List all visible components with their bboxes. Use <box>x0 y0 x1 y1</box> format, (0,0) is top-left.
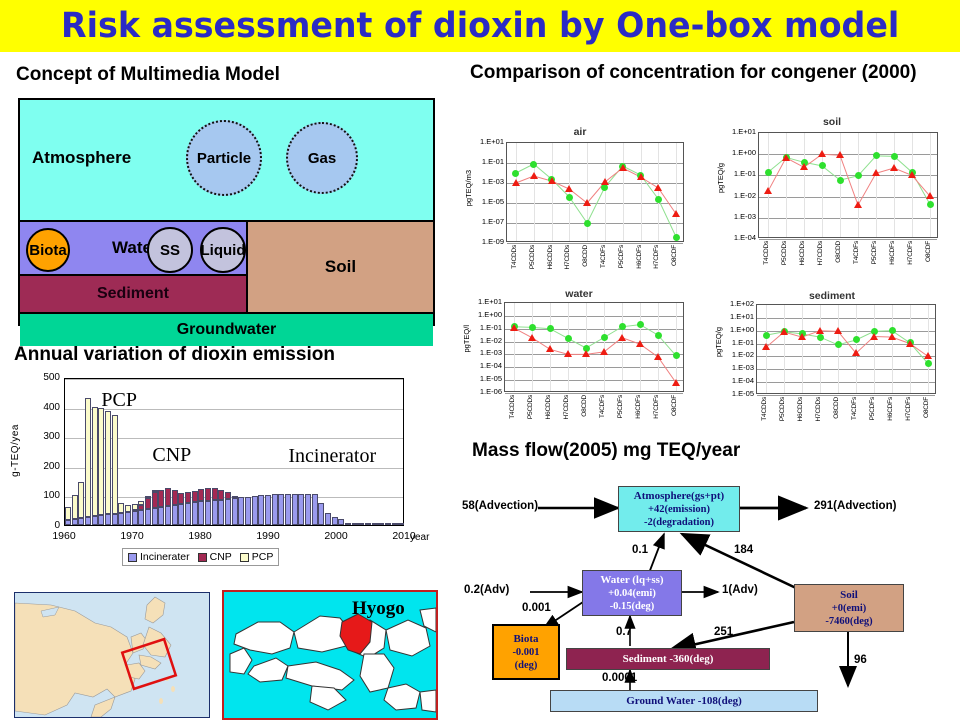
emission-bar-segment <box>245 497 251 525</box>
emission-bar <box>245 377 251 525</box>
emission-bar-segment <box>272 494 278 525</box>
air-x-tick: O8CDF <box>671 245 678 266</box>
water-x-tick: O8CDF <box>671 395 678 416</box>
emission-bar-segment <box>232 498 238 525</box>
water-data-point-circle <box>547 325 554 332</box>
water-data-point-triangle <box>600 348 608 355</box>
sediment-x-tick: T4CDDs <box>761 397 768 421</box>
sediment-data-point-triangle <box>924 352 932 359</box>
air-data-point-circle <box>584 220 591 227</box>
sediment-data-point-triangle <box>798 333 806 340</box>
soil-data-point-circle <box>819 162 826 169</box>
emission-bar <box>78 377 84 525</box>
heading-congener-comparison: Comparison of concentration for congener… <box>470 62 930 84</box>
soil-y-tick: 1.E-01 <box>722 169 756 178</box>
emission-legend-item: Incinerater <box>128 551 190 563</box>
soil-data-point-circle <box>891 153 898 160</box>
emission-bar-segment <box>178 504 184 525</box>
biota-circle: Biota <box>26 228 70 272</box>
emission-bar-segment <box>238 497 244 525</box>
heading-annual-emission: Annual variation of dioxin emission <box>14 344 335 366</box>
emission-bar-segment <box>198 489 204 501</box>
chart-water: waterpgTEQ/l1.E+011.E+001.E-011.E-021.E-… <box>458 288 700 428</box>
emission-bar-segment <box>378 523 384 525</box>
emission-legend-item: PCP <box>240 551 274 563</box>
gas-circle: Gas <box>286 122 358 194</box>
emission-legend: IncineraterCNPPCP <box>122 548 279 566</box>
water-x-tick: O8CDD <box>581 395 588 417</box>
emission-bar <box>252 377 258 525</box>
emission-bar-segment <box>352 523 358 525</box>
chart-air: airpgTEQ/m31.E+011.E-011.E-031.E-051.E-0… <box>460 126 700 286</box>
air-data-point-triangle <box>619 164 627 171</box>
air-y-tick: 1.E-05 <box>470 197 504 206</box>
emission-bar <box>205 377 211 525</box>
water-plot-area <box>504 302 684 392</box>
water-y-tick: 1.E-01 <box>468 323 502 332</box>
massflow-box-water: Water (lq+ss) +0.04(emi) -0.15(deg) <box>582 570 682 616</box>
compartment-groundwater: Groundwater <box>20 314 433 346</box>
soil-x-tick: O8CDD <box>835 241 842 263</box>
emission-bar-segment <box>165 488 171 506</box>
massflow-soil-line3: -7460(deg) <box>825 615 872 628</box>
emission-bar-segment <box>98 408 104 515</box>
massflow-label-water-to-air: 0.1 <box>632 544 648 556</box>
emission-bar-segment <box>118 513 124 525</box>
air-x-tick: P5CDFs <box>618 245 625 268</box>
massflow-label-water-out: 1(Adv) <box>722 584 758 596</box>
compartment-atmosphere: Atmosphere Particle Gas <box>20 100 433 222</box>
emission-bar-segment <box>185 503 191 525</box>
emission-annotation: CNP <box>152 444 191 467</box>
sediment-data-point-triangle <box>852 349 860 356</box>
air-data-point-triangle <box>565 185 573 192</box>
massflow-atmosphere-line1: Atmosphere(gs+pt) <box>634 490 724 503</box>
emission-bar-segment <box>318 503 324 525</box>
emission-bar-segment <box>112 415 118 514</box>
emission-bar-segment <box>198 501 204 525</box>
sediment-x-tick: P5CDDs <box>779 397 786 421</box>
air-y-tick: 1.E-01 <box>470 157 504 166</box>
massflow-label-water-to-biota: 0.001 <box>522 602 551 614</box>
emission-bar-segment <box>98 515 104 525</box>
emission-bar-segment <box>265 495 271 525</box>
map-japan-hyogo: Hyogo <box>222 590 438 720</box>
soil-x-tick: H6CDFs <box>889 241 896 265</box>
emission-bar-segment <box>105 514 111 525</box>
massflow-water-line1: Water (lq+ss) <box>600 574 663 587</box>
emission-bar-segment <box>358 523 364 525</box>
sediment-x-tick: H6CDFs <box>887 397 894 421</box>
water-data-point-circle <box>673 352 680 359</box>
air-data-point-circle <box>512 170 519 177</box>
air-data-point-circle <box>655 196 662 203</box>
air-data-point-triangle <box>672 210 680 217</box>
emission-bar-segment <box>145 498 151 509</box>
air-x-tick: O8CDD <box>582 245 589 267</box>
air-data-point-triangle <box>601 178 609 185</box>
emission-bar <box>225 377 231 525</box>
massflow-box-sediment: Sediment -360(deg) <box>566 648 770 670</box>
water-x-tick: H6CDDs <box>545 395 552 419</box>
air-data-point-triangle <box>530 172 538 179</box>
air-x-tick: H6CDFs <box>636 245 643 269</box>
massflow-atmosphere-line2: +42(emission) <box>648 503 710 516</box>
massflow-water-line3: -0.15(deg) <box>610 600 655 613</box>
emission-bar-segment <box>372 523 378 525</box>
emission-bar-segment <box>365 523 371 525</box>
emission-x-tick: 2010 <box>388 530 420 542</box>
sediment-y-tick: 1.E-02 <box>720 350 754 359</box>
massflow-box-groundwater: Ground Water -108(deg) <box>550 690 818 712</box>
legend-label: PCP <box>252 551 274 563</box>
sediment-y-tick: 1.E+02 <box>720 299 754 308</box>
air-x-tick: H7CDFs <box>653 245 660 269</box>
emission-bar-segment <box>125 512 131 525</box>
emission-annotation: PCP <box>101 389 137 412</box>
emission-bar-segment <box>298 494 304 525</box>
emission-bar-segment <box>112 514 118 525</box>
water-x-tick: P5CDFs <box>617 395 624 418</box>
emission-legend-item: CNP <box>198 551 232 563</box>
sediment-data-point-triangle <box>780 328 788 335</box>
emission-bar <box>72 377 78 525</box>
soil-data-point-triangle <box>926 192 934 199</box>
massflow-atmosphere-line3: -2(degradation) <box>644 516 714 529</box>
sediment-x-tick: P5CDFs <box>869 397 876 420</box>
emission-bar-segment <box>385 523 391 525</box>
emission-bar-segment <box>158 507 164 525</box>
emission-bar-segment <box>125 505 131 512</box>
soil-data-point-triangle <box>800 163 808 170</box>
emission-bar-segment <box>138 510 144 525</box>
water-y-tick: 1.E-04 <box>468 361 502 370</box>
air-x-tick: P5CDDs <box>529 245 536 269</box>
emission-bar-segment <box>278 494 284 525</box>
air-y-tick: 1.E-09 <box>470 237 504 246</box>
emission-bar-segment <box>325 513 331 525</box>
massflow-label-air-out: 291(Advection) <box>814 500 896 512</box>
emission-bar-segment <box>78 482 84 518</box>
emission-bar-segment <box>118 503 124 512</box>
emission-bar-segment <box>252 496 258 525</box>
emission-bar <box>385 377 391 525</box>
emission-bar <box>378 377 384 525</box>
water-y-tick: 1.E-02 <box>468 336 502 345</box>
emission-bar-segment <box>212 488 218 500</box>
soil-data-point-circle <box>837 177 844 184</box>
water-data-point-triangle <box>654 353 662 360</box>
heading-multimedia-model: Concept of Multimedia Model <box>16 64 280 86</box>
massflow-box-soil: Soil +0(emi) -7460(deg) <box>794 584 904 632</box>
soil-x-tick: O8CDF <box>925 241 932 262</box>
soil-data-point-triangle <box>854 201 862 208</box>
air-y-tick: 1.E-03 <box>470 177 504 186</box>
emission-x-tick: 1970 <box>116 530 148 542</box>
soil-y-tick: 1.E-03 <box>722 212 756 221</box>
soil-x-tick: T4CDFs <box>853 241 860 264</box>
air-data-point-triangle <box>512 179 520 186</box>
map-east-asia <box>14 592 210 718</box>
emission-bar-segment <box>205 488 211 501</box>
emission-x-tick: 1990 <box>252 530 284 542</box>
emission-bar-segment <box>205 501 211 525</box>
air-data-point-circle <box>673 234 680 241</box>
emission-bar-segment <box>285 494 291 525</box>
emission-bar <box>232 377 238 525</box>
massflow-biota-line3: (deg) <box>515 659 538 672</box>
air-series-lines <box>507 143 685 243</box>
sediment-data-point-triangle <box>762 343 770 350</box>
massflow-biota-line2: -0.001 <box>512 646 539 659</box>
emission-bar-segment <box>338 519 344 526</box>
emission-bar-segment <box>172 490 178 505</box>
water-data-point-circle <box>565 335 572 342</box>
emission-bar-segment <box>305 494 311 525</box>
massflow-groundwater-line1: Ground Water -108(deg) <box>626 695 742 708</box>
emission-bar-segment <box>218 500 224 525</box>
soil-data-point-circle <box>873 152 880 159</box>
emission-bar <box>138 377 144 525</box>
air-x-tick: T4CDFs <box>600 245 607 268</box>
ss-circle: SS <box>147 227 193 273</box>
emission-bar-segment <box>152 508 158 525</box>
soil-x-tick: T4CDDs <box>763 241 770 265</box>
emission-y-tick: 100 <box>16 490 60 501</box>
emission-y-tick: 500 <box>16 372 60 383</box>
emission-x-tick: 2000 <box>320 530 352 542</box>
emission-bar <box>272 377 278 525</box>
compartment-sediment: Sediment <box>20 276 248 314</box>
poster-title-banner: Risk assessment of dioxin by One-box mod… <box>0 0 960 52</box>
air-data-point-circle <box>566 194 573 201</box>
water-y-tick: 1.E-05 <box>468 374 502 383</box>
massflow-label-soil-to-groundwater: 96 <box>854 654 867 666</box>
emission-bar-segment <box>85 398 91 516</box>
emission-bar-segment <box>292 494 298 525</box>
water-data-point-circle <box>655 332 662 339</box>
emission-bar-segment <box>392 523 398 525</box>
heading-mass-flow: Mass flow(2005) mg TEQ/year <box>472 440 740 462</box>
water-x-tick: P5CDDs <box>527 395 534 419</box>
air-data-point-triangle <box>548 177 556 184</box>
emission-bar-segment <box>332 517 338 525</box>
sediment-y-tick: 1.E+00 <box>720 325 754 334</box>
sediment-plot-area <box>756 304 936 394</box>
legend-label: CNP <box>210 551 232 563</box>
air-y-tick: 1.E-07 <box>470 217 504 226</box>
emission-bar <box>238 377 244 525</box>
map-east-asia-svg <box>15 593 210 718</box>
air-x-tick: H7CDDs <box>564 245 571 269</box>
emission-bar-segment <box>158 490 164 507</box>
massflow-box-biota: Biota -0.001 (deg) <box>492 624 560 680</box>
massflow-box-atmosphere: Atmosphere(gs+pt) +42(emission) -2(degra… <box>618 486 740 532</box>
massflow-soil-line2: +0(emi) <box>832 602 867 615</box>
water-x-tick: H6CDFs <box>635 395 642 419</box>
emission-bar-segment <box>312 494 318 525</box>
emission-bar-segment <box>65 507 71 519</box>
sediment-data-point-circle <box>925 360 932 367</box>
emission-bar-segment <box>72 519 78 526</box>
water-data-point-triangle <box>510 324 518 331</box>
chart-soil: soilpgTEQ/g1.E+011.E+001.E-011.E-021.E-0… <box>712 116 952 284</box>
legend-swatch <box>128 553 137 562</box>
emission-annotation: Incinerator <box>288 445 376 468</box>
emission-bar-segment <box>172 505 178 525</box>
sediment-y-tick: 1.E-03 <box>720 363 754 372</box>
water-y-tick: 1.E+00 <box>468 310 502 319</box>
air-y-tick: 1.E+01 <box>470 137 504 146</box>
emission-bar <box>65 377 71 525</box>
soil-data-point-triangle <box>908 171 916 178</box>
sediment-x-tick: T4CDFs <box>851 397 858 420</box>
air-data-point-triangle <box>654 184 662 191</box>
water-x-tick: H7CDDs <box>563 395 570 419</box>
sediment-y-tick: 1.E+01 <box>720 312 754 321</box>
air-x-tick: T4CDDs <box>511 245 518 269</box>
emission-bar-segment <box>85 517 91 525</box>
sediment-y-tick: 1.E-04 <box>720 376 754 385</box>
emission-bar <box>212 377 218 525</box>
water-data-point-circle <box>601 334 608 341</box>
emission-y-tick: 400 <box>16 402 60 413</box>
page-title: Risk assessment of dioxin by One-box mod… <box>61 6 899 46</box>
emission-bar <box>218 377 224 525</box>
soil-data-point-triangle <box>836 151 844 158</box>
soil-data-point-triangle <box>782 154 790 161</box>
massflow-soil-line1: Soil <box>840 589 858 602</box>
soil-data-point-circle <box>927 201 934 208</box>
emission-bar-segment <box>345 523 351 525</box>
soil-plot-area <box>758 132 938 238</box>
emission-bar-segment <box>165 506 171 525</box>
emission-bar-segment <box>138 505 144 510</box>
massflow-label-air-in: 58(Advection) <box>462 500 538 512</box>
air-data-point-circle <box>530 161 537 168</box>
water-data-point-triangle <box>636 340 644 347</box>
sediment-data-point-circle <box>763 332 770 339</box>
water-x-tick: H7CDFs <box>653 395 660 419</box>
sediment-y-tick: 1.E-05 <box>720 389 754 398</box>
soil-x-tick: H7CDDs <box>817 241 824 265</box>
emission-bar-segment <box>92 407 98 516</box>
compartment-soil: Soil <box>248 222 433 314</box>
emission-y-tick: 200 <box>16 461 60 472</box>
atmosphere-label: Atmosphere <box>32 148 131 168</box>
soil-x-tick: P5CDFs <box>871 241 878 264</box>
water-y-tick: 1.E-03 <box>468 348 502 357</box>
massflow-label-soil-to-sediment: 251 <box>714 626 733 638</box>
sediment-y-tick: 1.E-01 <box>720 338 754 347</box>
liquid-circle: Liquid <box>200 227 246 273</box>
soil-data-point-triangle <box>890 164 898 171</box>
emission-bar-segment <box>225 499 231 525</box>
emission-bar-segment <box>145 496 151 498</box>
emission-bar-segment <box>152 490 158 492</box>
sediment-x-tick: O8CDF <box>923 397 930 418</box>
legend-label: Incinerater <box>140 551 190 563</box>
emission-x-tick: 1960 <box>48 530 80 542</box>
soil-x-tick: H7CDFs <box>907 241 914 265</box>
massflow-biota-line1: Biota <box>513 633 538 646</box>
hyogo-label: Hyogo <box>352 598 405 620</box>
emission-bar <box>392 377 398 525</box>
air-plot-area <box>506 142 684 242</box>
emission-y-tick: 300 <box>16 431 60 442</box>
emission-bar-segment <box>105 411 111 514</box>
air-data-point-triangle <box>637 173 645 180</box>
sediment-x-tick: O8CDD <box>833 397 840 419</box>
emission-bar-segment <box>192 491 198 502</box>
emission-bar-segment <box>232 496 238 498</box>
emission-chart: g-TEQ/yea year IncineraterCNPPCP PCPCNPI… <box>14 372 434 572</box>
sediment-data-point-triangle <box>870 333 878 340</box>
mass-flow-diagram: Atmosphere(gs+pt) +42(emission) -2(degra… <box>466 478 960 720</box>
sediment-x-tick: H6CDDs <box>797 397 804 421</box>
water-series-lines <box>505 303 685 393</box>
legend-swatch <box>198 553 207 562</box>
water-data-point-circle <box>529 324 536 331</box>
soil-x-tick: H6CDDs <box>799 241 806 265</box>
emission-bar-segment <box>258 495 264 525</box>
sediment-data-point-triangle <box>816 327 824 334</box>
emission-bar-segment <box>132 511 138 525</box>
sediment-x-tick: H7CDDs <box>815 397 822 421</box>
water-x-tick: T4CDFs <box>599 395 606 418</box>
emission-x-tick: 1980 <box>184 530 216 542</box>
emission-bar-segment <box>225 492 231 499</box>
soil-data-point-circle <box>765 169 772 176</box>
soil-data-point-triangle <box>872 169 880 176</box>
air-x-tick: H6CDDs <box>547 245 554 269</box>
water-data-point-circle <box>637 321 644 328</box>
emission-bar-segment <box>398 523 404 525</box>
sediment-data-point-circle <box>835 341 842 348</box>
emission-bar-segment <box>192 502 198 525</box>
air-data-point-triangle <box>583 199 591 206</box>
massflow-label-sediment-to-water: 0.7 <box>616 626 632 638</box>
emission-bar <box>265 377 271 525</box>
emission-bar <box>198 377 204 525</box>
emission-bar <box>92 377 98 525</box>
particle-circle: Particle <box>186 120 262 196</box>
massflow-label-soil-to-air: 184 <box>734 544 753 556</box>
soil-data-point-circle <box>855 172 862 179</box>
water-data-point-triangle <box>582 350 590 357</box>
sediment-data-point-circle <box>817 334 824 341</box>
emission-bar <box>85 377 91 525</box>
water-data-point-triangle <box>528 334 536 341</box>
water-x-tick: T4CDDs <box>509 395 516 419</box>
massflow-water-line2: +0.04(emi) <box>608 587 656 600</box>
emission-bar-segment <box>212 500 218 525</box>
emission-bar <box>278 377 284 525</box>
emission-bar-segment <box>145 509 151 525</box>
sediment-data-point-triangle <box>834 327 842 334</box>
emission-bar <box>192 377 198 525</box>
soil-x-tick: P5CDDs <box>781 241 788 265</box>
water-y-tick: 1.E-06 <box>468 387 502 396</box>
chart-sediment: sedimentpgTEQ/g1.E+021.E+011.E+001.E-011… <box>710 290 954 430</box>
emission-bar-segment <box>138 501 144 505</box>
emission-bar-segment <box>92 516 98 525</box>
soil-y-tick: 1.E-04 <box>722 233 756 242</box>
soil-data-point-triangle <box>818 150 826 157</box>
emission-bar-segment <box>218 490 224 499</box>
water-data-point-triangle <box>672 379 680 386</box>
emission-bar-segment <box>185 492 191 503</box>
